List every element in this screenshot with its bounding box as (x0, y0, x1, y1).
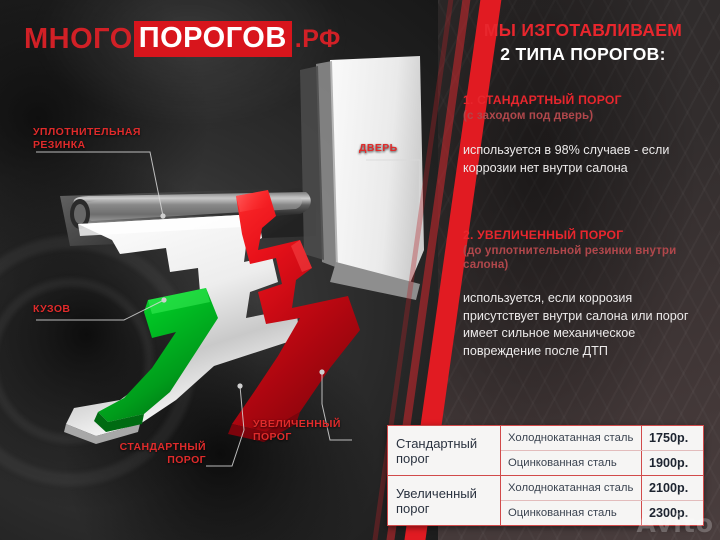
infographic-canvas: МНОГО ПОРОГОВ .РФ (0, 0, 720, 540)
price-table-row: Оцинкованная сталь 2300р. (501, 500, 703, 525)
price-table-rows-column: Холоднокатанная сталь 1750р. Оцинкованна… (501, 426, 703, 525)
price-table: Стандартный порог Увеличенный порог Холо… (387, 425, 704, 526)
price-value: 1900р. (641, 451, 703, 475)
type-2-title: 2. УВЕЛИЧЕННЫЙ ПОРОГ (463, 228, 623, 242)
callout-label-sealing-rubber: УПЛОТНИТЕЛЬНАЯ РЕЗИНКА (33, 126, 173, 152)
door-panel-shape (330, 56, 424, 288)
type-1-description: используется в 98% случаев - если корроз… (463, 142, 703, 177)
price-value: 1750р. (641, 426, 703, 450)
price-table-row: Оцинкованная сталь 1900р. (501, 450, 703, 475)
price-value: 2300р. (641, 501, 703, 525)
type-2-description: используется, если коррозия присутствует… (463, 290, 703, 360)
headline-line-2: 2 ТИПА ПОРОГОВ: (458, 44, 708, 65)
callout-label-increased-sill: УВЕЛИЧЕННЫЙ ПОРОГ (253, 418, 363, 444)
type-1-title: 1. СТАНДАРТНЫЙ ПОРОГ (463, 93, 622, 107)
callout-label-body: КУЗОВ (33, 303, 123, 316)
price-value: 2100р. (641, 476, 703, 500)
type-2-subtitle: (до уплотнительной резинки внутри салона… (463, 244, 703, 272)
type-1-subtitle: (с заходом под дверь) (463, 109, 703, 123)
price-table-row: Холоднокатанная сталь 1750р. (501, 426, 703, 450)
price-material: Оцинкованная сталь (501, 507, 641, 519)
callout-label-standard-sill: СТАНДАРТНЫЙ ПОРОГ (88, 441, 206, 467)
price-material: Холоднокатанная сталь (501, 482, 641, 494)
price-group-name: Увеличенный порог (388, 475, 500, 525)
callout-label-door: ДВЕРЬ (359, 142, 429, 155)
price-table-row: Холоднокатанная сталь 2100р. (501, 475, 703, 500)
price-material: Холоднокатанная сталь (501, 432, 641, 444)
price-group-name: Стандартный порог (388, 426, 500, 475)
price-material: Оцинкованная сталь (501, 457, 641, 469)
price-table-group-column: Стандартный порог Увеличенный порог (388, 426, 501, 525)
headline-line-1: МЫ ИЗГОТАВЛИВАЕМ (458, 20, 708, 41)
